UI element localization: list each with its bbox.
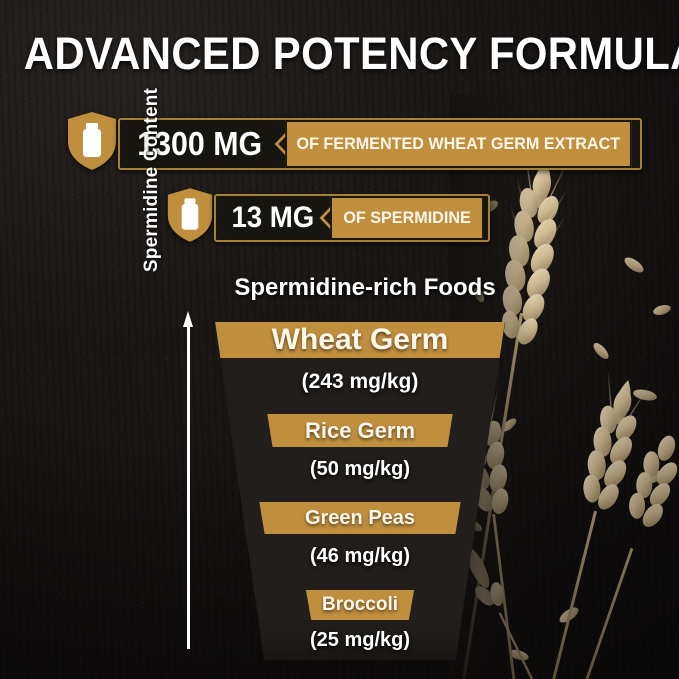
- dose-description-wrap-2: OF SPERMIDINE: [326, 196, 488, 240]
- funnel-band-clip-1: Wheat Germ: [195, 322, 525, 358]
- arrow-notch-inner-icon: [323, 210, 331, 226]
- shield-bottle-icon: [66, 110, 118, 177]
- chart-title: Spermidine-rich Foods: [195, 274, 535, 302]
- dose-description-wrap-1: OF FERMENTED WHEAT GERM EXTRACT: [276, 120, 641, 168]
- funnel-band-clip-4: Broccoli: [195, 590, 525, 620]
- infographic-poster: ADVANCED POTENCY FORMULA 1300 MG OF FERM…: [0, 0, 679, 679]
- dose-description-text-1: OF FERMENTED WHEAT GERM EXTRACT: [296, 134, 620, 154]
- funnel-segment-value-4: (25 mg/kg): [195, 620, 525, 660]
- funnel-segment-value-3: (46 mg/kg): [195, 534, 525, 578]
- dose-amount-2: 13 MG: [220, 196, 321, 240]
- page-title: ADVANCED POTENCY FORMULA: [24, 28, 655, 80]
- dose-badge-box-1: 1300 MG OF FERMENTED WHEAT GERM EXTRACT: [118, 118, 642, 170]
- dose-description-2: OF SPERMIDINE: [330, 196, 484, 240]
- funnel-segment-name-1: Wheat Germ: [195, 322, 525, 358]
- dose-description-text-2: OF SPERMIDINE: [343, 208, 470, 228]
- arrow-notch-inner-icon: [278, 136, 286, 152]
- funnel-segment-value-2: (50 mg/kg): [195, 447, 525, 491]
- dose-badge-row-2: 13 MG OF SPERMIDINE: [166, 186, 490, 249]
- funnel-segment-name-2: Rice Germ: [195, 414, 525, 447]
- y-axis-label: Spermidine Content: [141, 30, 163, 330]
- funnel-segment-name-4: Broccoli: [195, 590, 525, 620]
- funnel-band-clip-3: Green Peas: [195, 502, 525, 534]
- funnel-chart: Wheat Germ (243 mg/kg) Rice Germ (50 mg/…: [195, 322, 525, 660]
- dose-badge-box-2: 13 MG OF SPERMIDINE: [214, 194, 490, 242]
- funnel-segment-name-3: Green Peas: [195, 502, 525, 534]
- dose-description-1: OF FERMENTED WHEAT GERM EXTRACT: [285, 120, 631, 168]
- funnel-band-clip-2: Rice Germ: [195, 414, 525, 447]
- y-axis-arrow: [183, 311, 194, 649]
- funnel-segment-value-1: (243 mg/kg): [195, 358, 525, 406]
- axis-shaft: [187, 325, 190, 649]
- shield-bottle-icon: [166, 186, 214, 249]
